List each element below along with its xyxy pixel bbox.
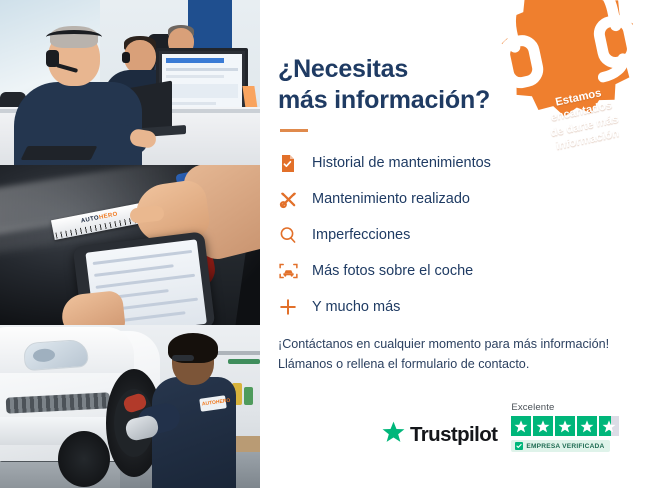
verified-badge: EMPRESA VERIFICADA	[511, 440, 610, 452]
rating-label: Excelente	[511, 402, 554, 413]
photo3-rear-tire	[58, 431, 110, 487]
photo1-screen-row	[166, 102, 216, 105]
feature-item-historial: Historial de mantenimientos	[278, 152, 650, 174]
promo-starburst-badge: Estamos encantados de darte más informac…	[497, 0, 639, 120]
photo1-desk-tablet	[21, 146, 98, 160]
contact-line-1: ¡Contáctanos en cualquier momento para m…	[278, 337, 609, 351]
photo3-safety-glasses	[172, 355, 194, 361]
trustpilot-brand: Trustpilot	[410, 423, 497, 447]
photo1-headset-band	[46, 30, 102, 44]
title-divider	[280, 129, 308, 132]
photo2-tablet-row	[93, 250, 193, 265]
photo2-tablet-row	[94, 264, 174, 277]
feature-label: Imperfecciones	[312, 227, 410, 243]
photo1-screen-row	[166, 75, 224, 78]
photo1-screen-bar	[166, 58, 224, 63]
contact-line-2: Llámanos o rellena el formulario de cont…	[278, 357, 529, 371]
magnifier-icon	[278, 224, 298, 246]
photo3-green-hose	[228, 359, 260, 364]
trustpilot-widget[interactable]: Trustpilot Excelente	[382, 402, 619, 452]
verified-label: EMPRESA VERIFICADA	[526, 443, 604, 450]
feature-label: Mantenimiento realizado	[312, 191, 470, 207]
photo3-shelf	[214, 351, 260, 355]
photo-collage: AUTOHERO	[0, 0, 260, 488]
trustpilot-rating: Excelente	[511, 402, 619, 452]
heading-line-1: ¿Necesitas	[278, 55, 408, 83]
check-icon	[515, 442, 523, 450]
photo1-screen-row	[166, 84, 238, 98]
feature-label: Más fotos sobre el coche	[312, 263, 473, 279]
rating-star-filled	[511, 416, 531, 436]
content-panel: ¿Necesitas más información? Historial de…	[260, 0, 650, 488]
info-banner: AUTOHERO	[0, 0, 650, 488]
photo3-headlight	[23, 339, 89, 371]
trustpilot-logo[interactable]: Trustpilot	[382, 421, 497, 452]
call-center-agents-photo	[0, 0, 260, 165]
checklist-document-icon	[278, 152, 298, 174]
feature-label: Y mucho más	[312, 299, 400, 315]
car-photo-scan-icon	[278, 260, 298, 282]
photo3-bottle	[244, 387, 253, 405]
photo3-headlight-lens	[33, 348, 56, 363]
rating-star-filled	[577, 416, 597, 436]
feature-label: Historial de mantenimientos	[312, 155, 491, 171]
wrench-screwdriver-icon	[278, 188, 298, 210]
contact-text: ¡Contáctanos en cualquier momento para m…	[278, 334, 638, 375]
photo3-mechanic-body	[152, 377, 236, 488]
photo2-tablet-row	[96, 274, 196, 289]
feature-list: Historial de mantenimientos Mantenimient…	[278, 152, 650, 318]
trustpilot-star-icon	[382, 421, 405, 448]
rating-star-filled	[533, 416, 553, 436]
starburst-shape	[497, 0, 639, 120]
plus-icon	[278, 296, 298, 318]
rating-star-filled	[555, 416, 575, 436]
car-inspection-ruler-photo: AUTOHERO	[0, 165, 260, 325]
feature-item-mucho-mas: Y mucho más	[278, 296, 650, 318]
feature-item-fotos: Más fotos sobre el coche	[278, 260, 650, 282]
mechanic-wheel-photo: AUTOHERO	[0, 325, 260, 488]
heading-line-2: más información?	[278, 86, 490, 114]
photo1-screen-row	[166, 68, 238, 71]
photo1-agent2-headset	[122, 52, 130, 63]
feature-item-mantenimiento: Mantenimiento realizado	[278, 188, 650, 210]
rating-star-partial	[599, 416, 619, 436]
feature-item-imperfecciones: Imperfecciones	[278, 224, 650, 246]
page-title: ¿Necesitas más información?	[278, 54, 528, 115]
star-rating	[511, 416, 619, 436]
